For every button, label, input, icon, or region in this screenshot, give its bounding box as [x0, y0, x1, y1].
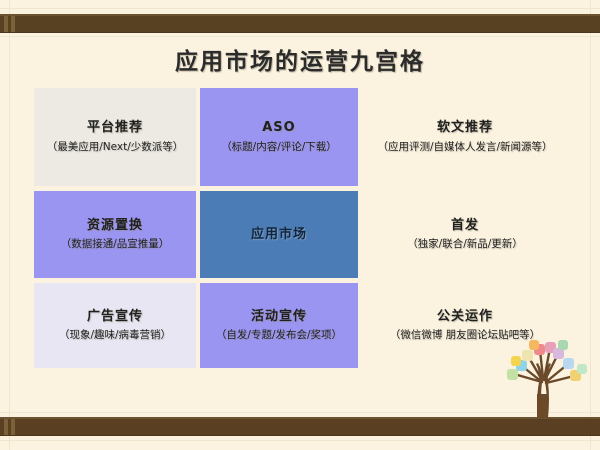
cell-title: 平台推荐 — [87, 118, 143, 138]
top-brown-bar — [0, 14, 600, 33]
bar-notch-icon — [4, 16, 8, 32]
nine-grid: 平台推荐 （最美应用/Next/少数派等） ASO （标题/内容/评论/下载） … — [34, 88, 568, 368]
cell-aso[interactable]: ASO （标题/内容/评论/下载） — [200, 88, 358, 186]
cell-subtitle: （数据接通/品宣推量） — [61, 237, 170, 253]
cell-first-release[interactable]: 首发 （独家/联合/新品/更新） — [362, 191, 568, 278]
cell-resource-exchange[interactable]: 资源置换 （数据接通/品宣推量） — [34, 191, 196, 278]
bottom-hairline-2 — [0, 440, 600, 441]
cell-advertising[interactable]: 广告宣传 （现象/趣味/病毒营销） — [34, 283, 196, 368]
cell-title: 软文推荐 — [437, 118, 493, 138]
cell-subtitle: （应用评测/自媒体人发言/新闻源等） — [377, 140, 552, 156]
decorative-tree-icon — [492, 336, 596, 418]
top-hairline-1 — [0, 8, 600, 9]
slide-canvas: 应用市场的运营九宫格 平台推荐 （最美应用/Next/少数派等） ASO （标题… — [0, 0, 600, 450]
cell-event-promotion[interactable]: 活动宣传 （自发/专题/发布会/奖项） — [200, 283, 358, 368]
cell-title: 活动宣传 — [251, 307, 307, 327]
cell-subtitle: （自发/专题/发布会/奖项） — [216, 328, 342, 344]
cell-title: 广告宣传 — [87, 307, 143, 327]
cell-app-market-center[interactable]: 应用市场 — [200, 191, 358, 278]
cell-title: 首发 — [451, 216, 479, 236]
cell-title: 公关运作 — [437, 307, 493, 327]
bar-notch-icon — [4, 419, 8, 435]
cell-subtitle: （标题/内容/评论/下载） — [221, 140, 337, 156]
cell-soft-article-recommendation[interactable]: 软文推荐 （应用评测/自媒体人发言/新闻源等） — [362, 88, 568, 186]
cell-title: 资源置换 — [87, 216, 143, 236]
bottom-brown-bar — [0, 417, 600, 436]
bar-notch-icon — [11, 16, 15, 32]
cell-title: ASO — [262, 118, 295, 138]
cell-title: 应用市场 — [251, 225, 307, 245]
cell-subtitle: （最美应用/Next/少数派等） — [47, 140, 184, 156]
cell-subtitle: （独家/联合/新品/更新） — [407, 237, 523, 253]
bar-notch-icon — [11, 419, 15, 435]
cell-platform-recommendation[interactable]: 平台推荐 （最美应用/Next/少数派等） — [34, 88, 196, 186]
top-hairline-2 — [0, 36, 600, 37]
page-title: 应用市场的运营九宫格 — [0, 42, 600, 76]
cell-subtitle: （现象/趣味/病毒营销） — [59, 328, 171, 344]
